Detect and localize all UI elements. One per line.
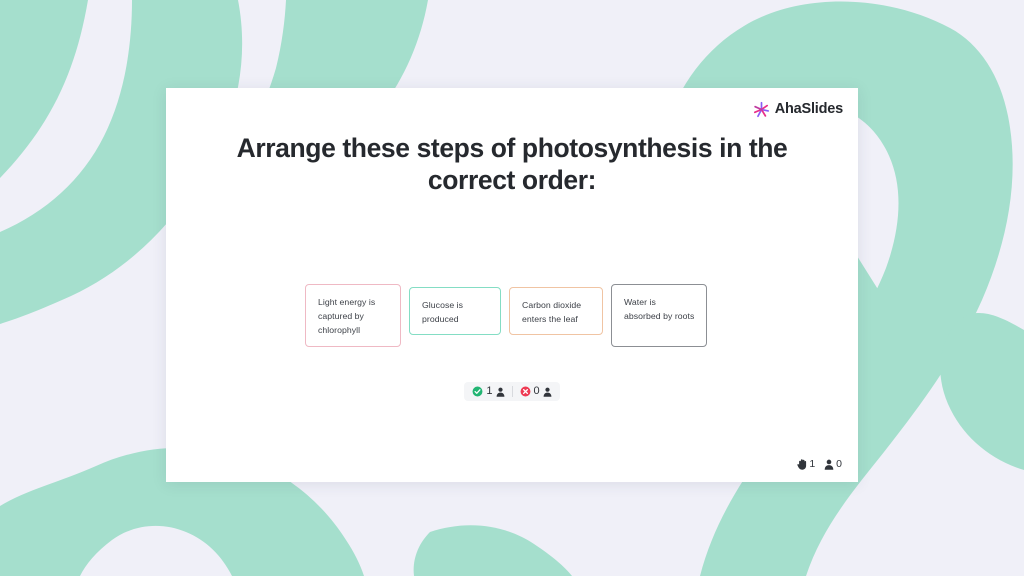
check-circle-icon — [472, 386, 483, 397]
hand-raise-stat: 1 — [797, 459, 815, 470]
correct-answer-badge: 1 — [472, 386, 504, 397]
slide-canvas: AhaSlides Arrange these steps of photosy… — [166, 88, 858, 482]
correct-answer-count: 1 — [486, 386, 492, 397]
hand-raise-icon — [797, 459, 807, 470]
answer-card-label: Carbon dioxide enters the leaf — [522, 299, 591, 327]
result-badge-pill: 1 0 — [464, 382, 559, 401]
answer-card[interactable]: Water is absorbed by roots — [611, 284, 707, 347]
result-badge-bar: 1 0 — [166, 382, 858, 401]
page-title: Arrange these steps of photosynthesis in… — [194, 132, 830, 196]
answer-card[interactable]: Glucose is produced — [409, 287, 501, 335]
answer-card-label: Light energy is captured by chlorophyll — [318, 296, 389, 337]
person-icon — [824, 459, 834, 470]
participant-count: 0 — [836, 459, 842, 470]
answer-card[interactable]: Carbon dioxide enters the leaf — [509, 287, 603, 335]
answer-card-label: Glucose is produced — [422, 299, 489, 327]
hand-raise-count: 1 — [809, 459, 815, 470]
participant-stat: 0 — [824, 459, 842, 470]
ahaslides-wordmark: AhaSlides — [775, 102, 843, 117]
ahaslides-starburst-icon — [753, 101, 770, 118]
person-icon — [496, 387, 505, 397]
x-circle-icon — [520, 386, 531, 397]
footer-stats-bar: 1 0 — [797, 459, 842, 470]
answer-card-list: Light energy is captured by chlorophyll … — [305, 284, 725, 347]
incorrect-answer-count: 0 — [534, 386, 540, 397]
person-icon — [543, 387, 552, 397]
answer-card[interactable]: Light energy is captured by chlorophyll — [305, 284, 401, 347]
ahaslides-brand: AhaSlides — [753, 101, 843, 118]
answer-card-label: Water is absorbed by roots — [624, 296, 695, 324]
incorrect-answer-badge: 0 — [520, 386, 552, 397]
badge-divider — [512, 386, 513, 397]
